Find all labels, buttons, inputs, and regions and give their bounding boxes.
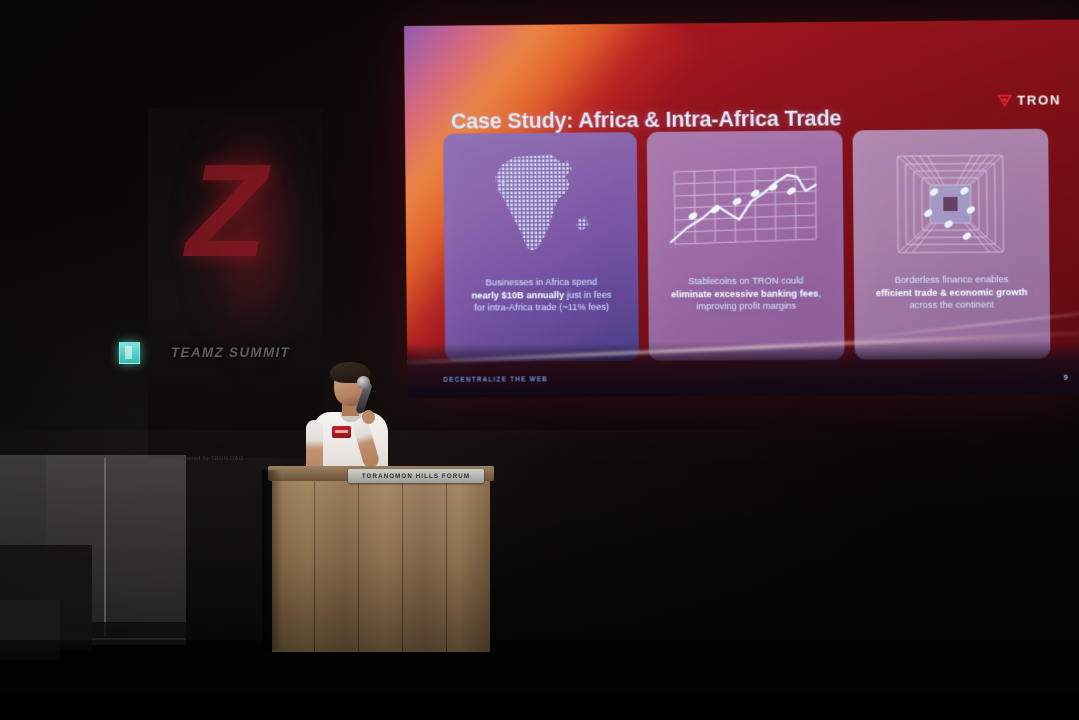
tron-wordmark: TRON — [1017, 92, 1061, 107]
card3-bold: efficient trade & economic growth — [876, 287, 1028, 298]
podium-plaque: TORANOMON HILLS FORUM — [348, 469, 484, 483]
podium-plaque-text: TORANOMON HILLS FORUM — [362, 473, 470, 480]
podium-shading — [272, 479, 490, 652]
card3-line2: across the continent — [909, 300, 993, 311]
tron-logo: TRON — [997, 92, 1061, 108]
conference-photo-scene: Z TEAMZ SUMMIT Presented by TRON DAO Cas… — [0, 0, 1079, 720]
line-chart-icon — [647, 144, 843, 266]
card1-bold: nearly $10B annually — [471, 290, 564, 301]
card2-line2: , — [818, 288, 821, 298]
card2-bold: eliminate excessive banking fees — [671, 288, 818, 299]
network-grid-icon — [852, 143, 1049, 265]
card3-line1: Borderless finance enables — [895, 274, 1009, 285]
card2-line1: Stablecoins on TRON could — [688, 275, 804, 286]
slide-footer-note: DECENTRALIZE THE WEB — [443, 376, 548, 384]
podium: TORANOMON HILLS FORUM — [268, 466, 494, 652]
slide-page-number: 9 — [1064, 373, 1068, 382]
venue-sign-text: TEAMZ SUMMIT — [171, 345, 351, 360]
floor-shadow — [0, 640, 1079, 720]
projection-screen: Case Study: Africa & Intra-Africa Trade … — [404, 19, 1079, 398]
card-africa-fees: Businesses in Africa spend nearly $10B a… — [443, 132, 639, 362]
card-borderless-text: Borderless finance enables efficient tra… — [862, 273, 1042, 312]
podium-side-shadow — [262, 470, 282, 650]
card-borderless-finance: Borderless finance enables efficient tra… — [852, 129, 1050, 360]
tron-triangle-icon — [997, 94, 1012, 107]
card-africa-text: Businesses in Africa spend nearly $10B a… — [452, 276, 630, 315]
presenter-credit-text: Presented by TRON DAO — [172, 456, 292, 462]
speaker-tron-badge — [332, 426, 351, 438]
card-stablecoin-fees: Stablecoins on TRON could eliminate exce… — [647, 130, 844, 360]
card1-line3: for intra-Africa trade (~11% fees) — [474, 302, 609, 313]
card1-line2: just in fees — [564, 289, 611, 299]
microphone-head-icon — [357, 376, 370, 389]
africa-map-icon — [443, 146, 638, 268]
card1-line1: Businesses in Africa spend — [486, 277, 598, 288]
card2-line3: improving profit margins — [696, 301, 796, 312]
card-stablecoin-text: Stablecoins on TRON could eliminate exce… — [656, 274, 835, 313]
backdrop-z-logo: Z — [186, 152, 278, 284]
exit-sign-icon — [119, 342, 140, 364]
